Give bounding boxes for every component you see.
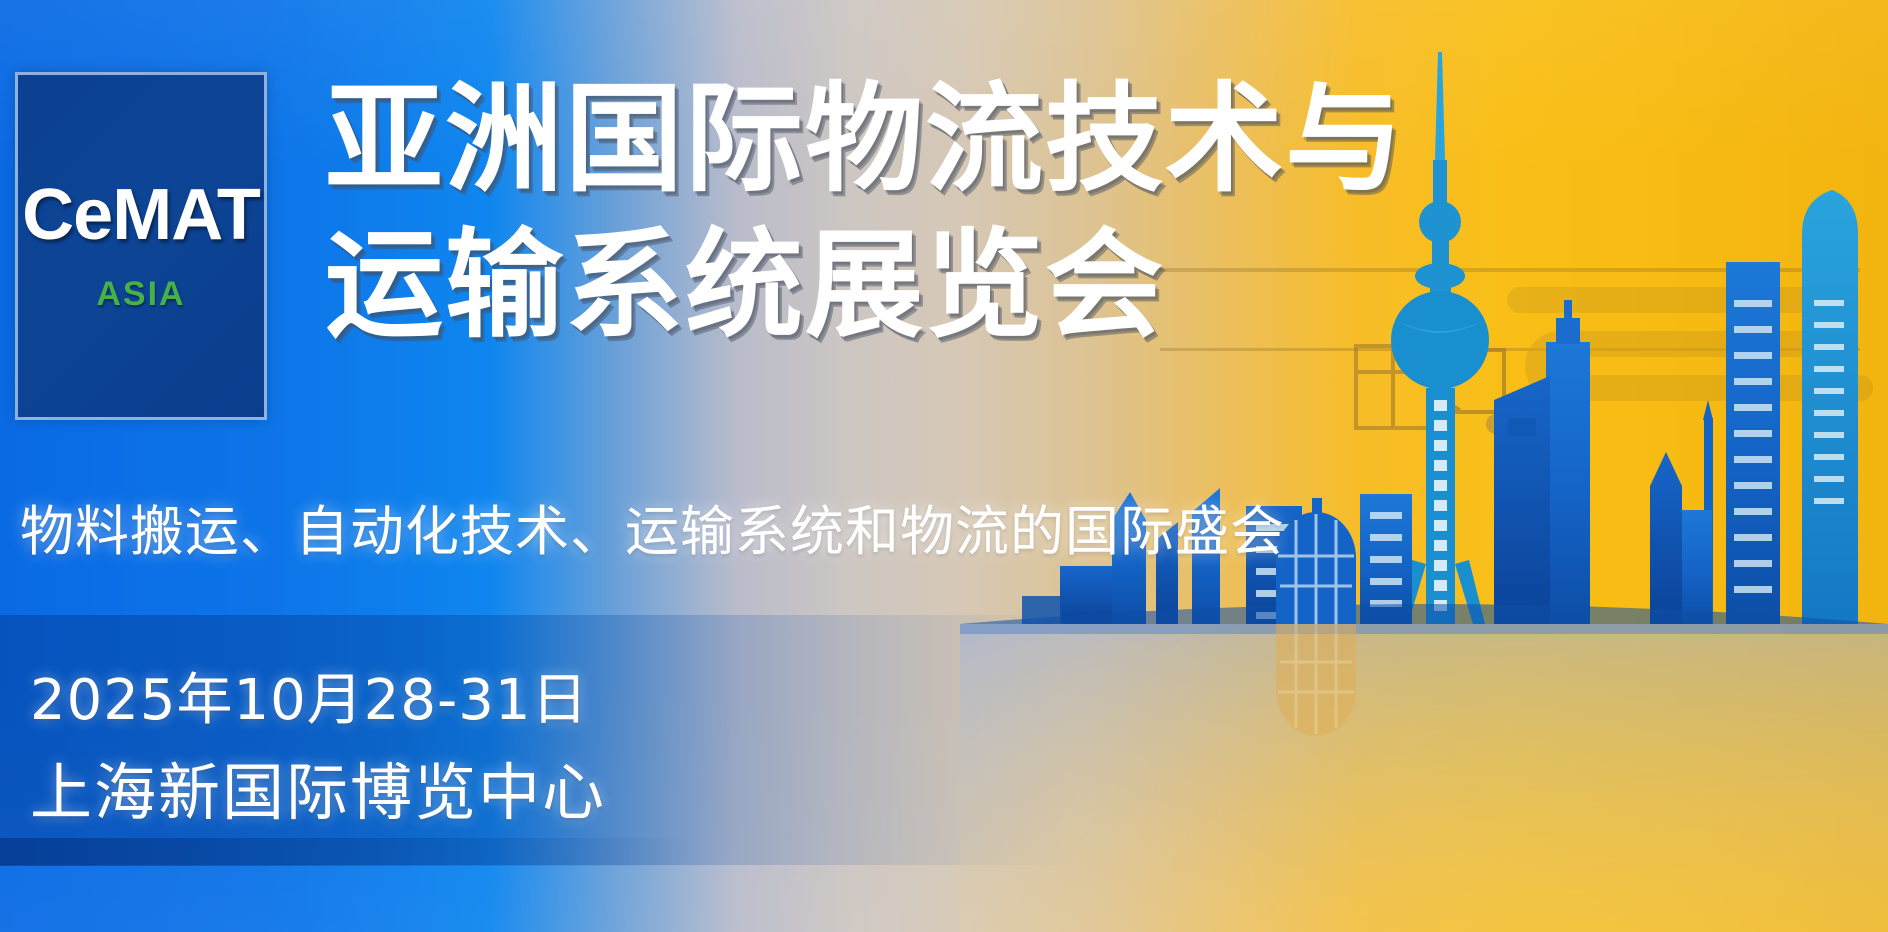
event-date: 2025年10月28-31日 — [30, 655, 589, 736]
event-venue: 上海新国际博览中心 — [30, 742, 606, 832]
page-subtitle: 物料搬运、自动化技术、运输系统和物流的国际盛会 — [20, 487, 1285, 566]
expo-dome-reflection — [1276, 624, 1356, 736]
expo-dome — [1276, 512, 1356, 624]
water-surface — [960, 624, 1888, 932]
logo-region: ASIA — [96, 275, 185, 314]
cemat-asia-banner: CeMAT ASIA 亚洲国际物流技术与 运输系统展览会 物料搬运、自动化技术、… — [0, 0, 1888, 932]
page-title-line-1: 亚洲国际物流技术与 — [325, 66, 1385, 212]
logo-wordmark: CeMAT — [22, 179, 260, 251]
page-title-line-2: 运输系统展览会 — [325, 212, 1385, 358]
cemat-logo[interactable]: CeMAT ASIA — [15, 72, 267, 420]
background-dark-band-lower — [0, 838, 700, 866]
page-title: 亚洲国际物流技术与 运输系统展览会 — [325, 66, 1385, 359]
